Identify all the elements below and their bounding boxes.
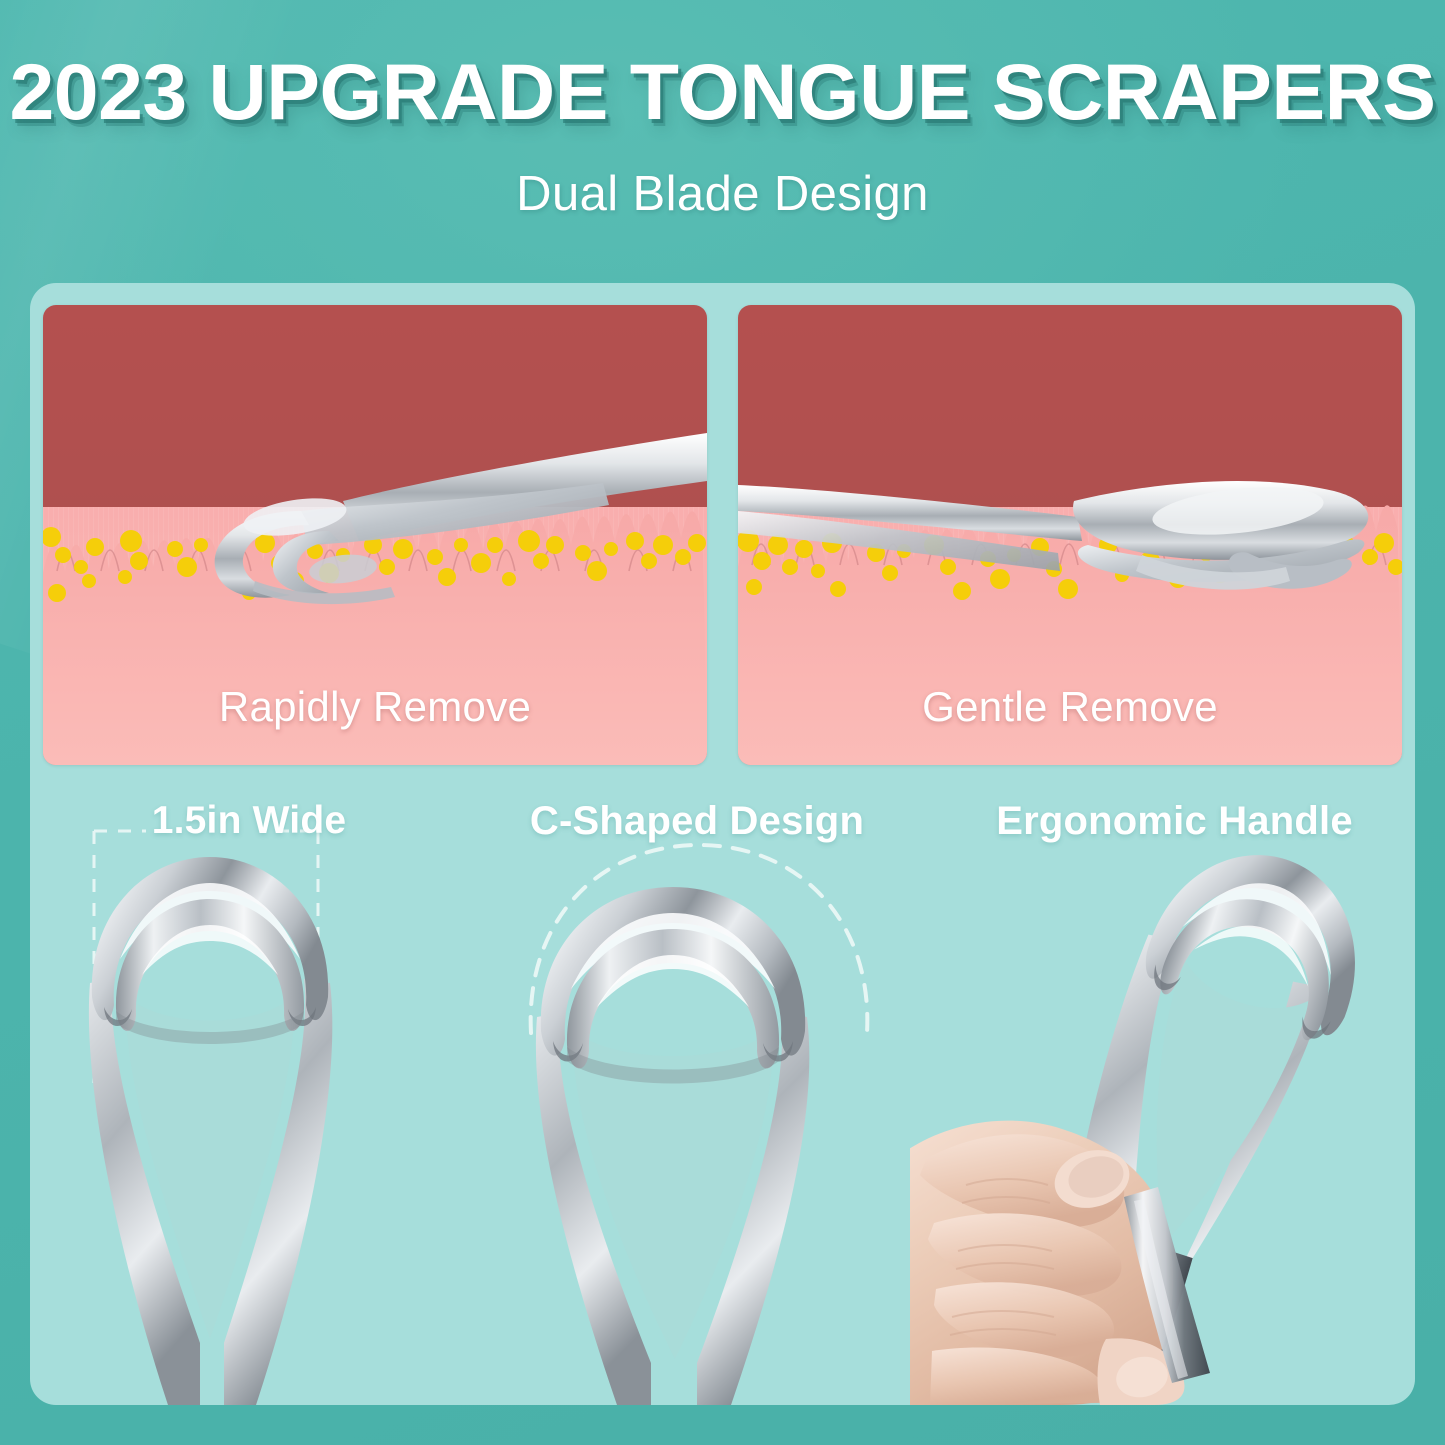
feature-columns: 1.5in Wide	[30, 783, 1415, 1405]
product-infographic: 2023 UPGRADE TONGUE SCRAPERS Dual Blade …	[0, 0, 1445, 1445]
feature-label-width: 1.5in Wide	[34, 799, 464, 843]
demonstration-cards: Rapidly Remove	[43, 305, 1402, 765]
card-label-rapidly-remove: Rapidly Remove	[43, 683, 707, 731]
feature-c-shape: C-Shaped Design	[485, 783, 925, 1405]
content-panel: Rapidly Remove	[30, 283, 1415, 1405]
feature-width: 1.5in Wide	[60, 783, 490, 1405]
card-label-gentle-remove: Gentle Remove	[738, 683, 1402, 731]
scraper-head-with-c-arc	[485, 783, 925, 1405]
page-subtitle: Dual Blade Design	[0, 166, 1445, 222]
feature-ergonomic-handle: Ergonomic Handle	[910, 783, 1415, 1405]
page-title: 2023 UPGRADE TONGUE SCRAPERS	[0, 52, 1445, 131]
card-gentle-remove: Gentle Remove	[738, 305, 1402, 765]
feature-label-c-shape: C-Shaped Design	[477, 799, 917, 844]
hand-holding-scraper	[910, 783, 1415, 1405]
scraper-head-with-measure-bracket	[60, 783, 490, 1405]
header: 2023 UPGRADE TONGUE SCRAPERS Dual Blade …	[0, 0, 1445, 222]
card-rapidly-remove: Rapidly Remove	[43, 305, 707, 765]
feature-label-ergonomic-handle: Ergonomic Handle	[922, 799, 1427, 844]
